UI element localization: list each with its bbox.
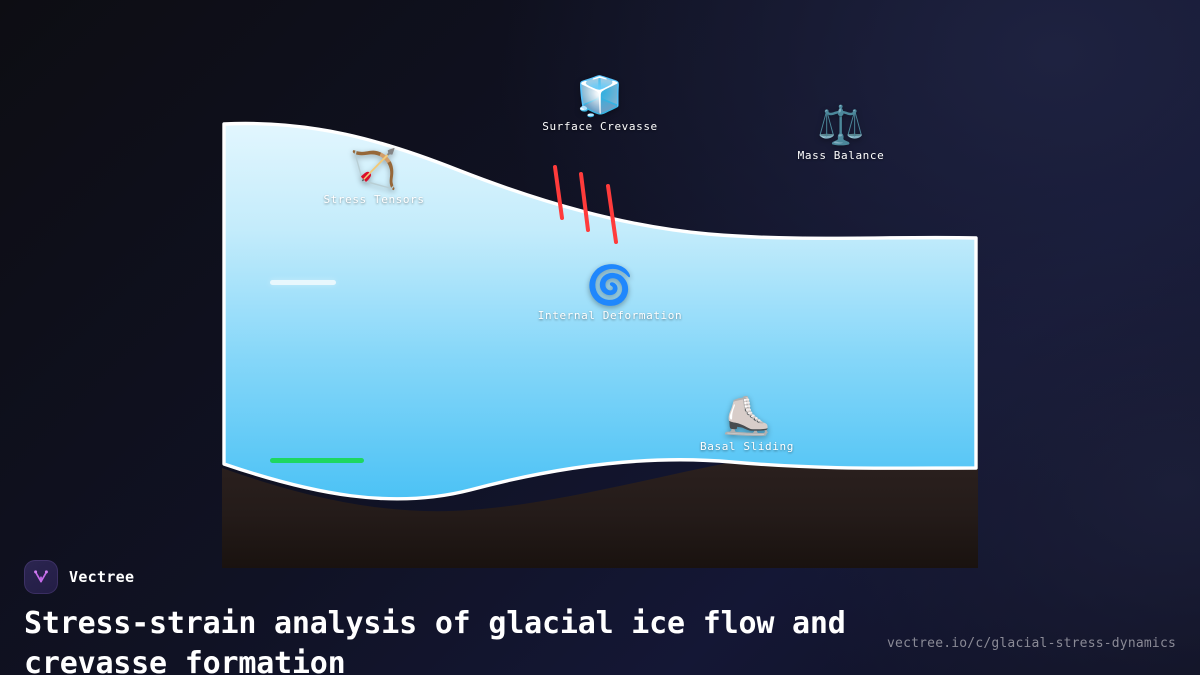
marker-label-internal-deformation: Internal Deformation <box>538 309 682 322</box>
footer: Vectree Stress-strain analysis of glacia… <box>0 560 1200 675</box>
ice-skate-icon: ⛸️ <box>723 397 770 435</box>
marker-surface-crevasse[interactable]: 🧊 Surface Crevasse <box>542 77 658 133</box>
page-title: Stress-strain analysis of glacial ice fl… <box>24 604 864 675</box>
vectree-logo-mark <box>31 567 51 587</box>
marker-label-mass-balance: Mass Balance <box>798 149 885 162</box>
basal-flow-bar <box>270 458 364 463</box>
marker-basal-sliding[interactable]: ⛸️ Basal Sliding <box>700 397 794 453</box>
marker-mass-balance[interactable]: ⚖️ Mass Balance <box>798 106 885 162</box>
brand[interactable]: Vectree <box>24 560 134 594</box>
marker-label-basal-sliding: Basal Sliding <box>700 440 794 453</box>
marker-stress-tensors[interactable]: 🏹 Stress Tensors <box>323 150 424 206</box>
vectree-logo-icon <box>24 560 58 594</box>
site-url: vectree.io/c/glacial-stress-dynamics <box>887 636 1176 651</box>
cyclone-icon: 🌀 <box>586 266 633 304</box>
bow-and-arrow-icon: 🏹 <box>350 150 397 188</box>
marker-label-surface-crevasse: Surface Crevasse <box>542 120 658 133</box>
surface-flow-bar <box>270 280 336 285</box>
ice-cube-icon: 🧊 <box>576 77 623 115</box>
marker-internal-deformation[interactable]: 🌀 Internal Deformation <box>538 266 682 322</box>
marker-label-stress-tensors: Stress Tensors <box>323 193 424 206</box>
balance-scale-icon: ⚖️ <box>817 106 864 144</box>
brand-name: Vectree <box>69 568 134 586</box>
